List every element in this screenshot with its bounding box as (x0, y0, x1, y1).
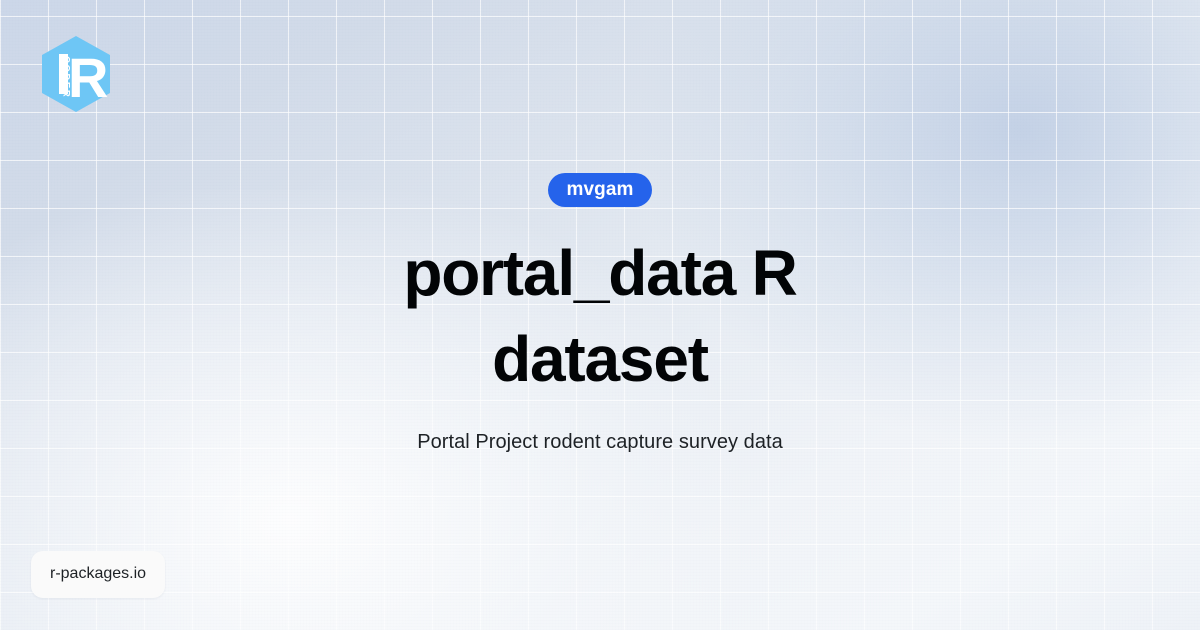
page-subtitle: Portal Project rodent capture survey dat… (417, 428, 783, 457)
hero-content: mvgam portal_data R dataset Portal Proje… (0, 0, 1200, 630)
page-title: portal_data R dataset (320, 231, 880, 403)
package-badge[interactable]: mvgam (548, 173, 651, 207)
site-name-chip[interactable]: r-packages.io (31, 551, 165, 598)
